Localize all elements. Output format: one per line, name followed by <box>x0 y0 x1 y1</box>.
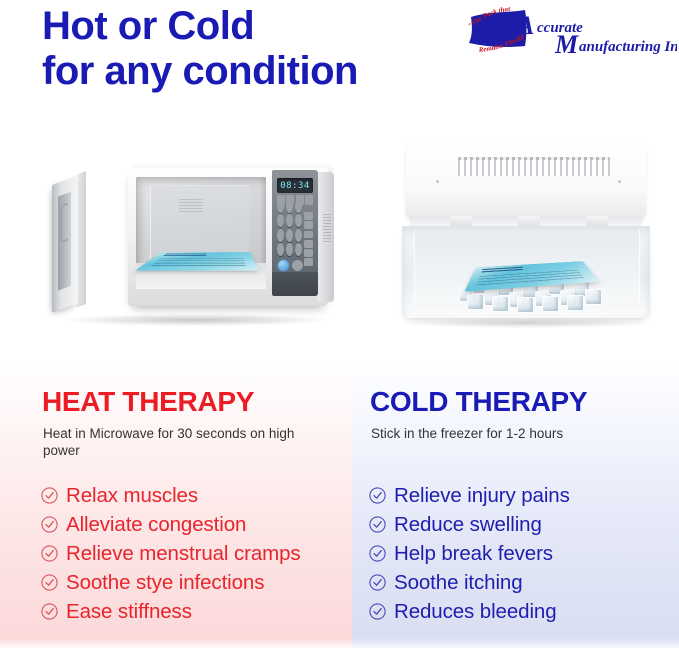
microwave-preset-button <box>304 240 313 248</box>
product-imagery: 08:34 <box>0 118 679 358</box>
microwave-keypad-key <box>277 214 284 227</box>
freezer-compartment <box>402 226 650 318</box>
logo-initial-m: M <box>554 30 579 56</box>
ice-cube <box>542 296 559 312</box>
cold-therapy-title: COLD THERAPY <box>370 386 587 418</box>
microwave-shadow <box>64 314 328 326</box>
microwave-cavity <box>136 177 266 289</box>
microwave-function-button <box>305 195 313 205</box>
freezer-screw <box>436 180 439 183</box>
microwave-open-door <box>52 175 78 313</box>
microwave-keypad-key <box>286 243 293 256</box>
list-item-label: Relax muscles <box>66 484 198 508</box>
list-item: Relax muscles <box>40 481 301 510</box>
freezer-screw <box>618 180 621 183</box>
freezer-lid <box>406 140 646 218</box>
freezer-hinge-tab <box>450 216 472 226</box>
cold-benefits-list: Relieve injury pains Reduce swelling Hel… <box>368 481 570 626</box>
check-circle-icon <box>40 486 59 505</box>
therapy-panels: HEAT THERAPY Heat in Microwave for 30 se… <box>0 358 679 648</box>
microwave-preset-button <box>304 212 313 220</box>
cold-therapy-subtitle: Stick in the freezer for 1-2 hours <box>371 425 661 442</box>
microwave-preset-button <box>304 221 313 229</box>
heat-therapy-subtitle: Heat in Microwave for 30 seconds on high… <box>43 425 333 459</box>
gel-pack-label-text <box>162 253 206 256</box>
ice-cube <box>467 294 484 310</box>
microwave-keypad-key <box>277 243 284 256</box>
accurate-manufacturing-logo: "The Pack that Remains Flexible" A ccura… <box>455 4 677 56</box>
microwave-keypad-key <box>295 214 302 227</box>
list-item: Relieve menstrual cramps <box>40 539 301 568</box>
list-item: Reduce swelling <box>368 510 570 539</box>
gel-pack-label-lines <box>149 258 246 267</box>
check-circle-icon <box>40 544 59 563</box>
list-item-label: Soothe stye infections <box>66 571 264 595</box>
freezer-hinge-tab <box>518 216 540 226</box>
microwave-photo: 08:34 <box>40 146 340 336</box>
list-item-label: Help break fevers <box>394 542 553 566</box>
check-circle-icon <box>368 544 387 563</box>
check-circle-icon <box>368 515 387 534</box>
cold-panel-bottom-fade <box>352 638 679 648</box>
check-circle-icon <box>40 515 59 534</box>
list-item: Soothe itching <box>368 568 570 597</box>
microwave-preset-button <box>304 249 313 257</box>
heat-therapy-panel: HEAT THERAPY Heat in Microwave for 30 se… <box>0 358 352 648</box>
microwave-number-keypad <box>277 200 302 256</box>
microwave-door-handle <box>60 202 68 243</box>
microwave-side-panel <box>318 172 334 302</box>
gel-pack-label-text <box>481 267 523 274</box>
list-item-label: Ease stiffness <box>66 600 192 624</box>
heat-panel-bottom-fade <box>0 638 352 648</box>
check-circle-icon <box>368 602 387 621</box>
microwave-preset-button <box>304 231 313 239</box>
page-title: Hot or Cold for any condition <box>42 4 462 94</box>
ice-cube <box>567 295 584 311</box>
logo-initial-a: A <box>515 11 534 40</box>
check-circle-icon <box>368 573 387 592</box>
list-item-label: Relieve menstrual cramps <box>66 542 301 566</box>
logo-word-manufacturing: anufacturing Inc. <box>579 39 677 55</box>
list-item: Soothe stye infections <box>40 568 301 597</box>
microwave-keypad-key <box>286 214 293 227</box>
freezer-vent-slats <box>458 160 610 176</box>
list-item-label: Reduce swelling <box>394 513 542 537</box>
list-item: Reduces bleeding <box>368 597 570 626</box>
microwave-preset-buttons <box>304 212 313 266</box>
microwave-cavity-vent <box>179 199 203 213</box>
cold-therapy-panel: COLD THERAPY Stick in the freezer for 1-… <box>352 358 679 648</box>
microwave-start-button <box>278 260 289 271</box>
list-item-label: Reduces bleeding <box>394 600 557 624</box>
freezer-hinge-tab <box>586 216 608 226</box>
microwave-keypad-key <box>277 229 284 242</box>
check-circle-icon <box>368 486 387 505</box>
freezer-photo <box>384 132 672 338</box>
microwave-keypad-key <box>295 200 302 213</box>
microwave-keypad-key <box>286 229 293 242</box>
microwave-keypad-key <box>295 243 302 256</box>
ice-cube <box>585 289 602 305</box>
headline-line-2: for any condition <box>42 49 462 94</box>
microwave-control-panel: 08:34 <box>272 170 318 296</box>
list-item-label: Alleviate congestion <box>66 513 246 537</box>
microwave-keypad-key <box>295 229 302 242</box>
freezer-shadow <box>404 318 648 328</box>
microwave-display-value: 08:34 <box>280 181 310 191</box>
heat-therapy-title: HEAT THERAPY <box>42 386 254 418</box>
microwave-display: 08:34 <box>277 178 313 193</box>
freezer-compartment-interior <box>414 230 640 304</box>
microwave-stop-button <box>292 260 303 271</box>
microwave-keypad-key <box>286 200 293 213</box>
microwave-panel-base <box>272 272 318 296</box>
check-circle-icon <box>40 573 59 592</box>
list-item: Relieve injury pains <box>368 481 570 510</box>
ice-cube <box>492 296 509 312</box>
heat-benefits-list: Relax muscles Alleviate congestion Relie… <box>40 481 301 626</box>
ice-cube <box>517 297 534 313</box>
list-item: Ease stiffness <box>40 597 301 626</box>
headline-line-1: Hot or Cold <box>42 4 462 49</box>
list-item-label: Soothe itching <box>394 571 523 595</box>
list-item-label: Relieve injury pains <box>394 484 570 508</box>
list-item: Help break fevers <box>368 539 570 568</box>
list-item: Alleviate congestion <box>40 510 301 539</box>
microwave-side-vent <box>323 214 331 244</box>
microwave-preset-button <box>304 258 313 266</box>
microwave-keypad-key <box>277 200 284 213</box>
check-circle-icon <box>40 602 59 621</box>
